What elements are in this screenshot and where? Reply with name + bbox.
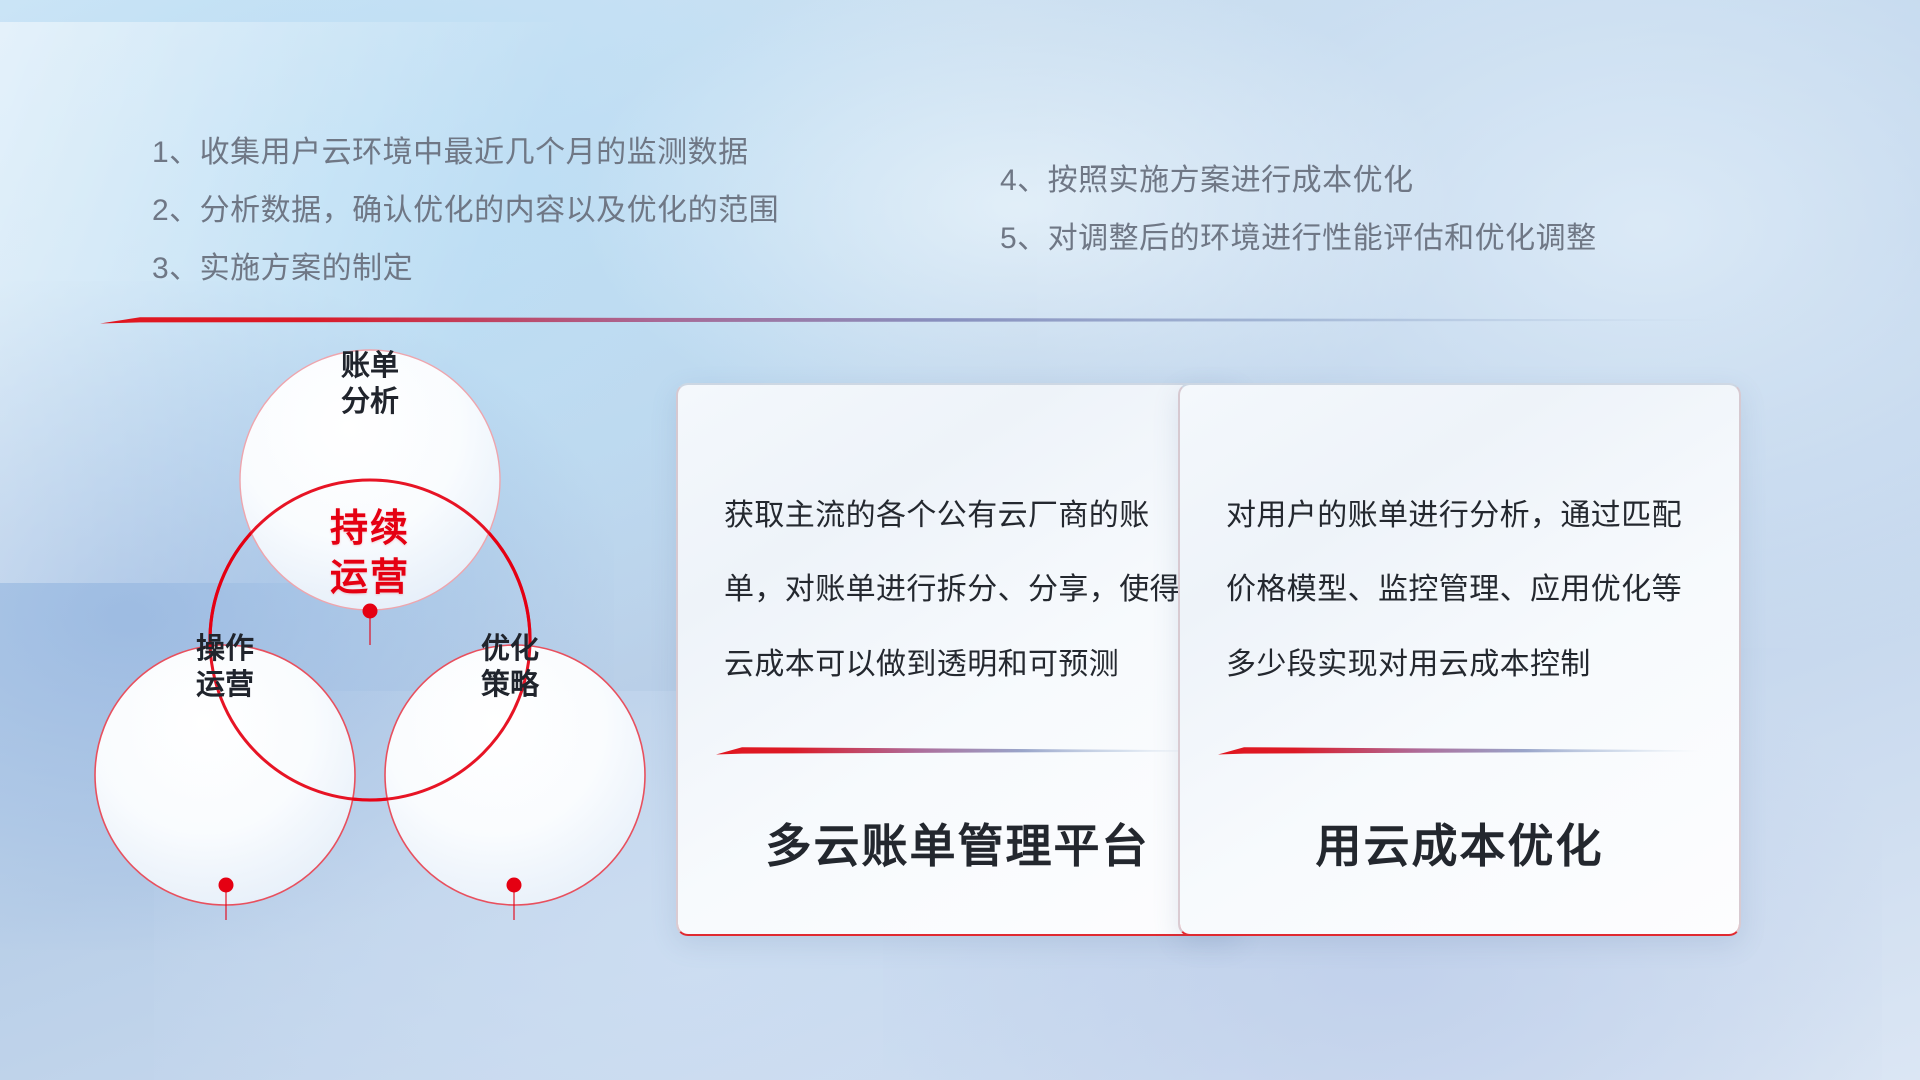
card-accent-rule <box>1218 745 1698 756</box>
card-title: 多云账单管理平台 <box>678 810 1237 876</box>
node-dot-right <box>507 878 522 893</box>
node-dot-left <box>219 878 234 893</box>
bubble-label-optimization-policy: 优化 策略 <box>420 631 600 704</box>
step-item-5: 5、对调整后的环境进行性能评估和优化调整 <box>1000 213 1597 257</box>
continuous-operation-diagram: 账单 分析 操作 运营 优化 策略 持续 运营 <box>90 345 660 955</box>
bubble-label-operation: 操作 运营 <box>135 631 315 704</box>
card-title: 用云成本优化 <box>1180 810 1739 876</box>
section-divider <box>100 312 1720 326</box>
feature-card-cloud-cost-optimization[interactable]: 对用户的账单进行分析，通过匹配价格模型、监控管理、应用优化等多少段实现对用云成本… <box>1178 383 1741 936</box>
node-dot-top <box>363 604 378 619</box>
card-body-text: 对用户的账单进行分析，通过匹配价格模型、监控管理、应用优化等多少段实现对用云成本… <box>1226 479 1709 702</box>
step-item-2: 2、分析数据，确认优化的内容以及优化的范围 <box>152 185 779 229</box>
card-accent-rule <box>716 745 1196 756</box>
bubble-label-bill-analysis: 账单 分析 <box>280 348 460 421</box>
diagram-center-label: 持续 运营 <box>285 505 455 602</box>
step-item-4: 4、按照实施方案进行成本优化 <box>1000 155 1414 199</box>
step-item-3: 3、实施方案的制定 <box>152 243 413 287</box>
step-item-1: 1、收集用户云环境中最近几个月的监测数据 <box>152 127 749 171</box>
feature-card-multi-cloud-billing[interactable]: 获取主流的各个公有云厂商的账单，对账单进行拆分、分享，使得云成本可以做到透明和可… <box>676 383 1239 936</box>
card-body-text: 获取主流的各个公有云厂商的账单，对账单进行拆分、分享，使得云成本可以做到透明和可… <box>724 479 1207 702</box>
process-step-list: 1、收集用户云环境中最近几个月的监测数据 2、分析数据，确认优化的内容以及优化的… <box>0 0 1920 300</box>
